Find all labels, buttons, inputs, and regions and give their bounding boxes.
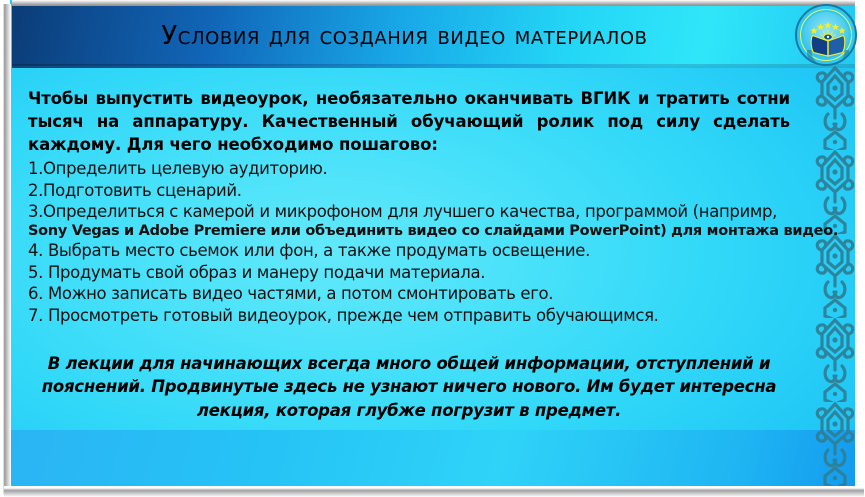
slide-left-shadow	[0, 4, 11, 494]
slide-bottom-shadow	[4, 486, 864, 497]
list-item: 2.Подготовить сценарий.	[28, 180, 790, 201]
steps-list: 1.Определить целевую аудиторию. 2.Подгот…	[28, 158, 790, 326]
page-title: Условия для создания видео материалов	[12, 6, 855, 66]
list-item: 5. Продумать свой образ и манеру подачи …	[28, 262, 790, 283]
emblem-artwork-icon	[797, 6, 857, 66]
list-item: 7. Просмотреть готовый видеоурок, прежде…	[28, 305, 790, 326]
title-bar: Условия для создания видео материалов	[12, 6, 855, 66]
list-item: 4. Выбрать место сьемок или фон, а также…	[28, 240, 790, 261]
ornament-pattern	[815, 66, 855, 486]
presentation-slide: Условия для создания видео материалов	[0, 0, 865, 497]
slide-content: Чтобы выпустить видеоурок, необязательно…	[28, 88, 790, 422]
list-item: 1.Определить целевую аудиторию.	[28, 158, 790, 179]
kazakh-ornament-border-icon	[815, 66, 855, 486]
list-item: 3.Определиться с камерой и микрофоном дл…	[28, 201, 790, 222]
slide-background-bottom	[10, 430, 855, 486]
list-item-continuation: Sony Vegas и Adobe Premiere или объедини…	[28, 223, 790, 241]
closing-paragraph: В лекции для начинающих всегда много общ…	[34, 352, 784, 422]
list-item: 6. Можно записать видео частями, а потом…	[28, 283, 790, 304]
intro-paragraph: Чтобы выпустить видеоурок, необязательно…	[28, 88, 790, 156]
university-emblem-icon	[795, 4, 857, 66]
title-bar-underline	[12, 64, 855, 68]
